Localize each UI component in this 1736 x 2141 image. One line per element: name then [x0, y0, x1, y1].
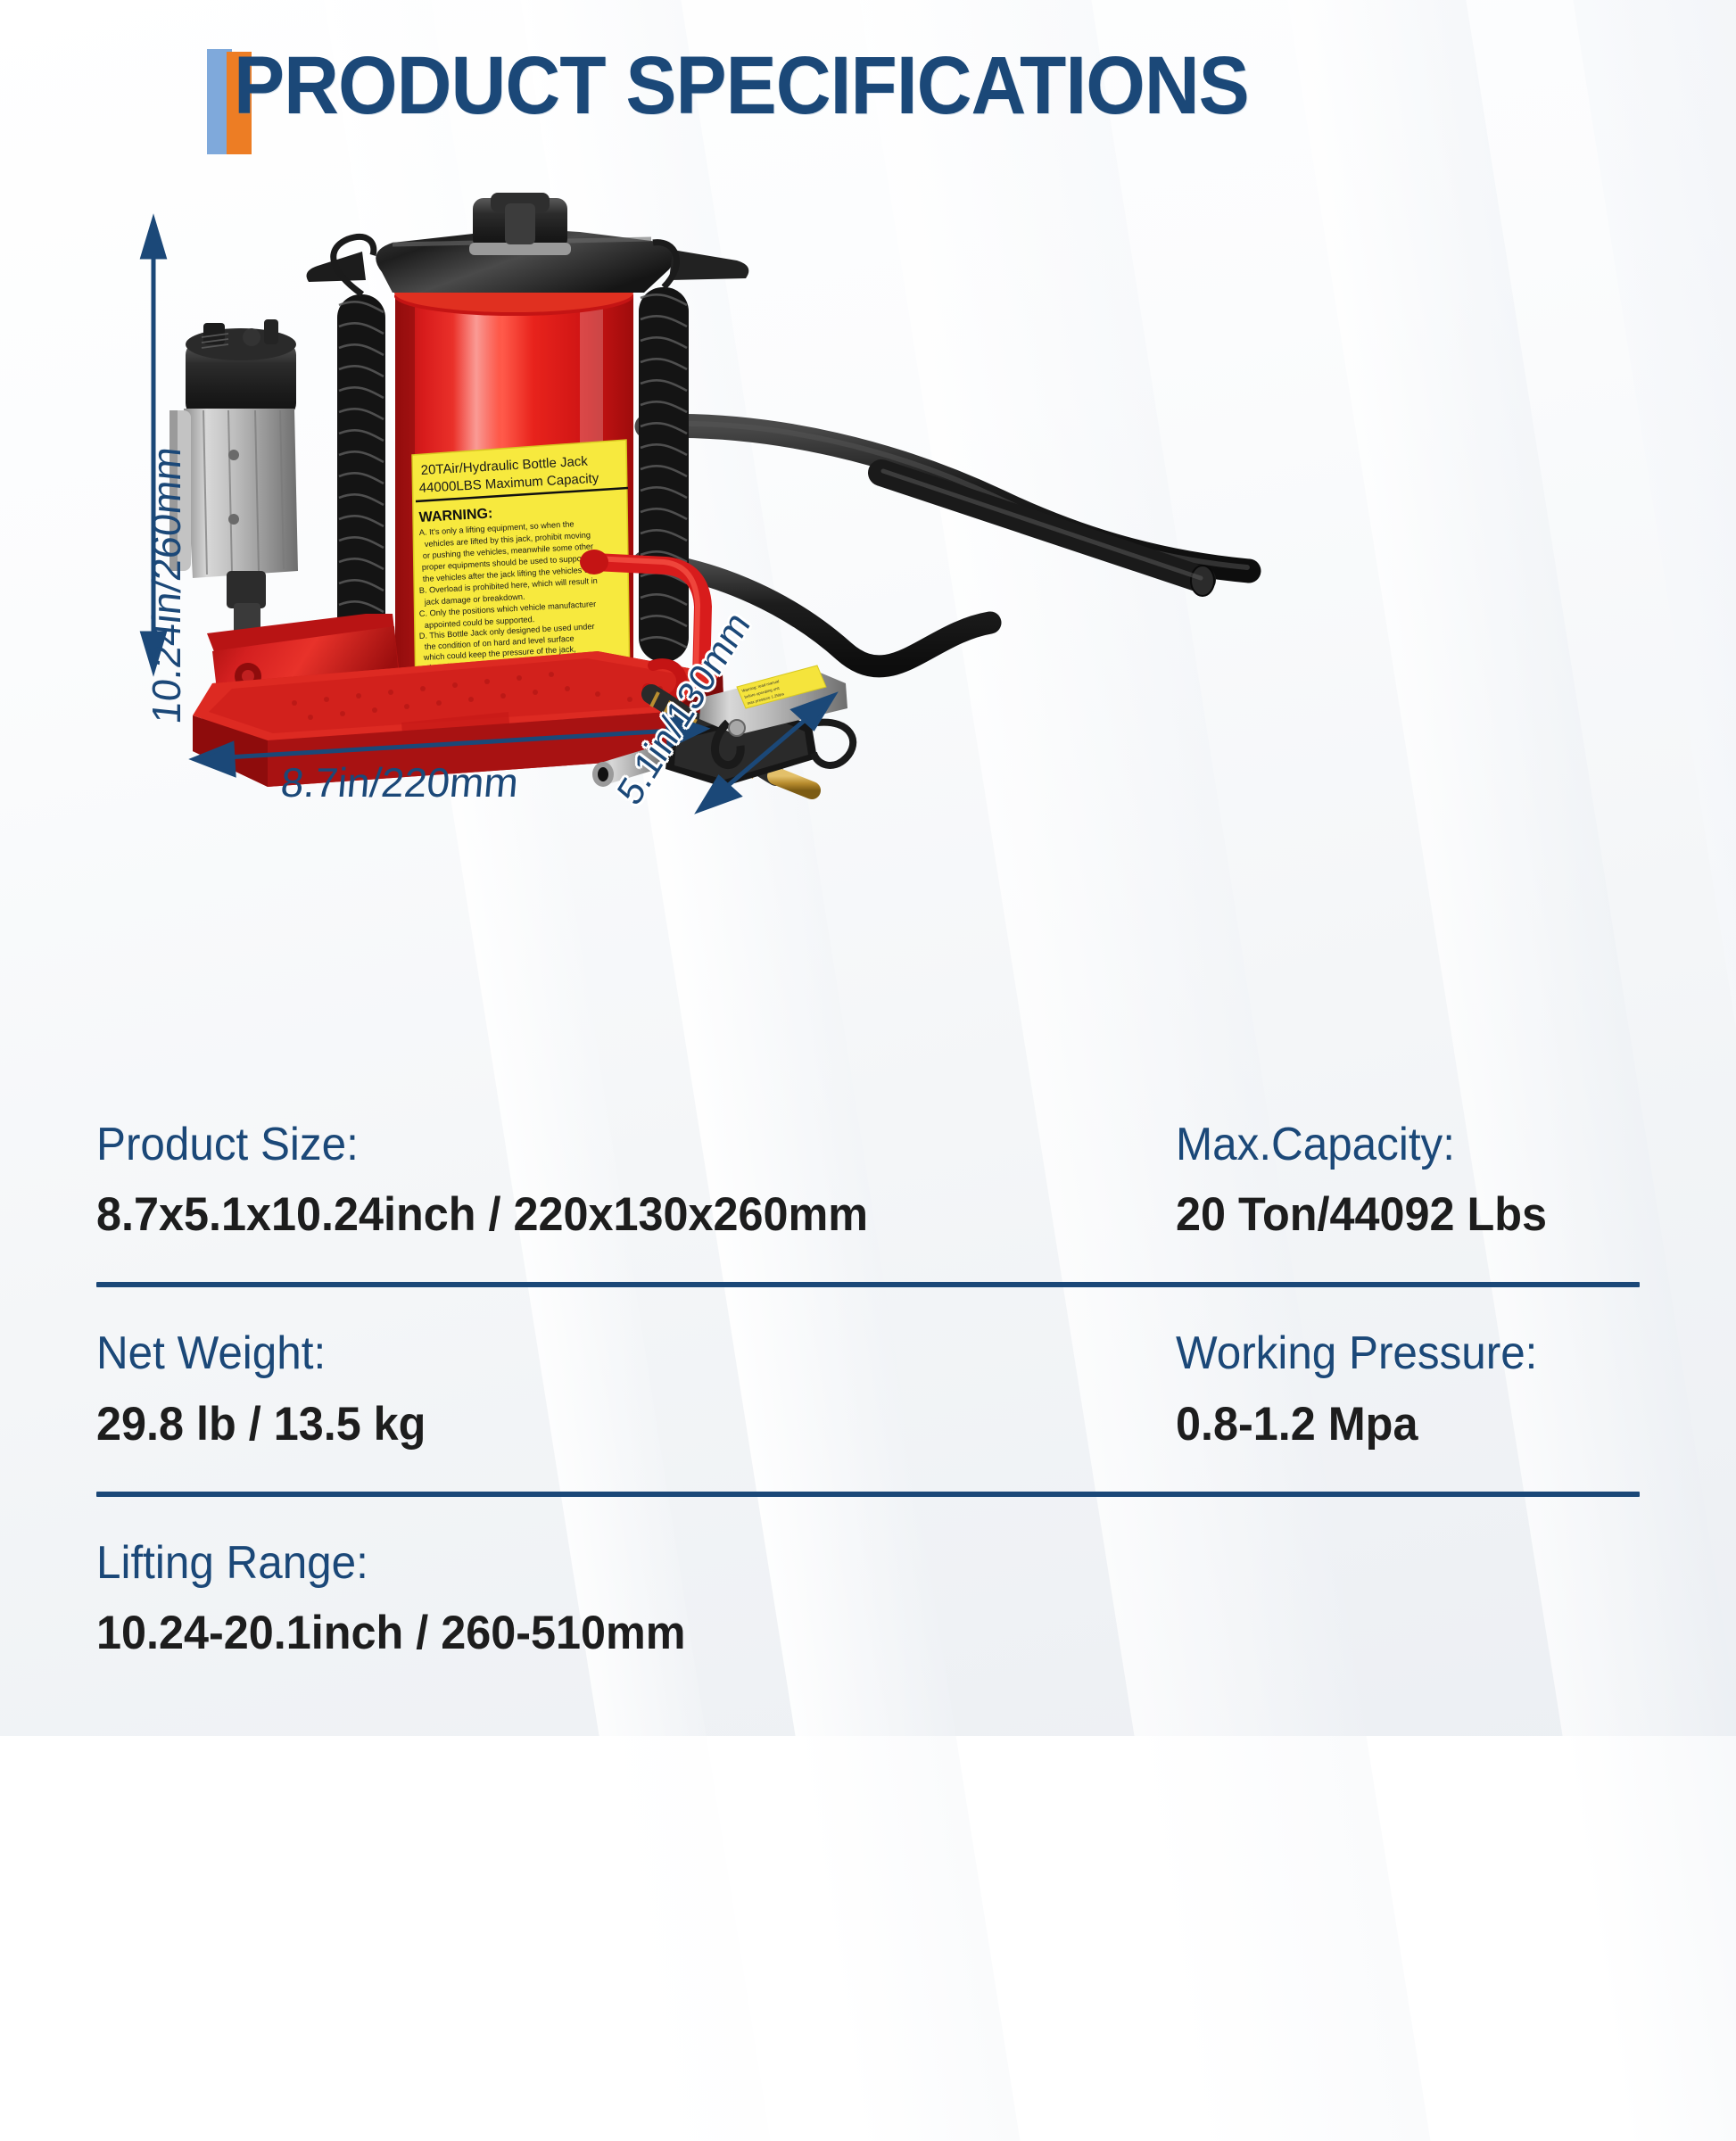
spec-cell-max-capacity: Max.Capacity: 20 Ton/44092 Lbs — [1176, 1120, 1640, 1241]
spec-cell-lifting-range: Lifting Range: 10.24-20.1inch / 260-510m… — [96, 1538, 1176, 1659]
spec-row-lifting-range: Lifting Range: 10.24-20.1inch / 260-510m… — [96, 1538, 1640, 1659]
spec-row-product-size: Product Size: 8.7x5.1x10.24inch / 220x13… — [96, 1120, 1640, 1241]
header: PRODUCT SPECIFICATIONS — [0, 0, 1736, 178]
spec-cell-net-weight: Net Weight: 29.8 lb / 13.5 kg — [96, 1328, 1176, 1450]
spec-value-max-capacity: 20 Ton/44092 Lbs — [1176, 1189, 1616, 1241]
spec-value-lifting-range: 10.24-20.1inch / 260-510mm — [96, 1608, 1122, 1659]
spec-value-working-pressure: 0.8-1.2 Mpa — [1176, 1399, 1616, 1451]
dimension-height-label: 10.24in/260mm — [144, 444, 190, 726]
spec-value-product-size: 8.7x5.1x10.24inch / 220x130x260mm — [96, 1189, 1122, 1241]
page-title: PRODUCT SPECIFICATIONS — [234, 39, 1249, 133]
spec-label-net-weight: Net Weight: — [96, 1328, 1122, 1378]
spec-cell-product-size: Product Size: 8.7x5.1x10.24inch / 220x13… — [96, 1120, 1176, 1241]
dimension-width-label: 8.7in/220mm — [279, 758, 521, 806]
spec-label-working-pressure: Working Pressure: — [1176, 1328, 1616, 1378]
return-spring-right — [639, 243, 689, 700]
spec-row-net-weight: Net Weight: 29.8 lb / 13.5 kg Working Pr… — [96, 1328, 1640, 1450]
spec-value-net-weight: 29.8 lb / 13.5 kg — [96, 1399, 1122, 1451]
spec-label-max-capacity: Max.Capacity: — [1176, 1120, 1616, 1170]
spec-cell-working-pressure: Working Pressure: 0.8-1.2 Mpa — [1176, 1328, 1640, 1450]
spec-cell-empty — [1176, 1538, 1640, 1659]
spec-label-lifting-range: Lifting Range: — [96, 1538, 1122, 1588]
specifications-table: Product Size: 8.7x5.1x10.24inch / 220x13… — [96, 1120, 1640, 1659]
spec-label-product-size: Product Size: — [96, 1120, 1122, 1170]
product-image-block: 20TAir/Hydraulic Bottle Jack 44000LBS Ma… — [98, 187, 1365, 892]
